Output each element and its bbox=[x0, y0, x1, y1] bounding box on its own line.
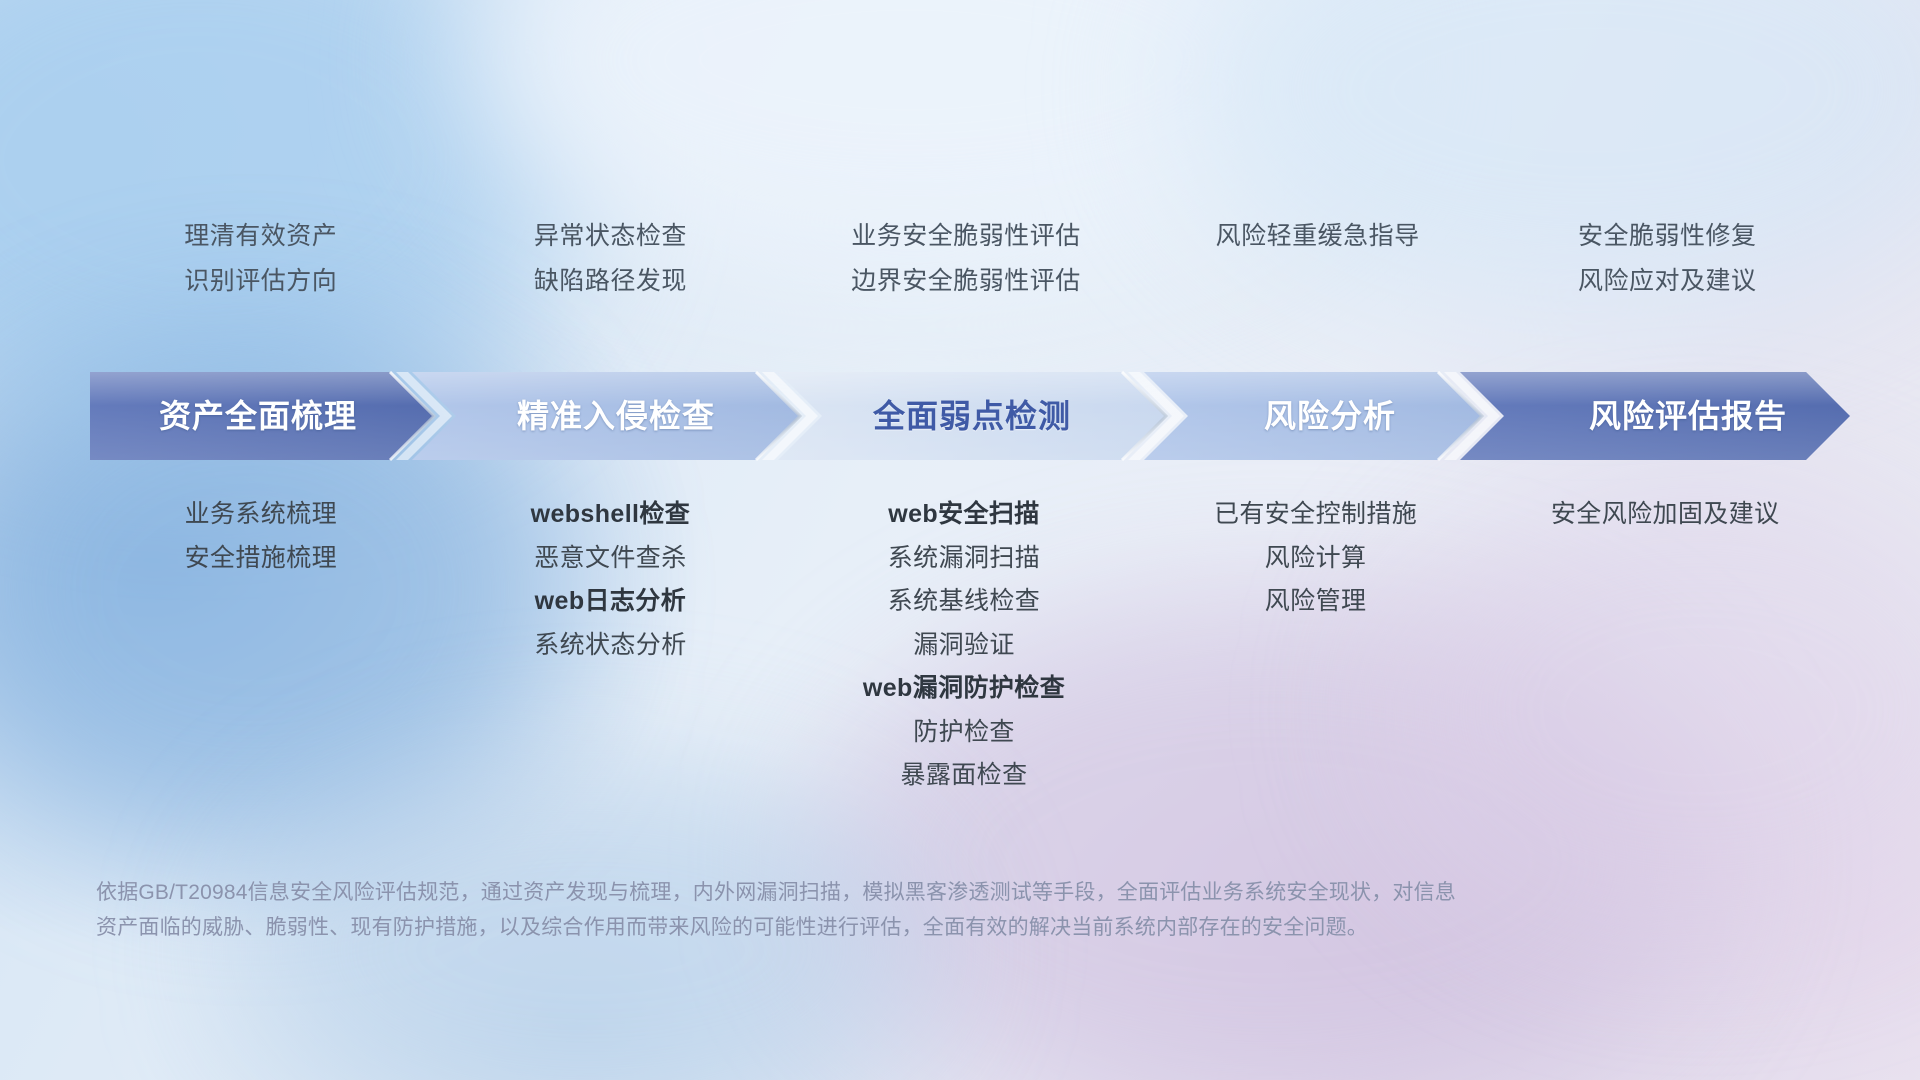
top-note: 风险应对及建议 bbox=[1578, 267, 1757, 296]
list-item: 风险计算 bbox=[1265, 544, 1367, 574]
list-item: 已有安全控制措施 bbox=[1214, 500, 1417, 530]
list-item: 安全措施梳理 bbox=[185, 544, 337, 574]
list-item: web安全扫描 bbox=[888, 500, 1039, 530]
top-note: 安全脆弱性修复 bbox=[1578, 222, 1757, 251]
list-item: 系统基线检查 bbox=[888, 587, 1040, 617]
detail-list-stage-1: 业务系统梳理 安全措施梳理 bbox=[88, 500, 434, 791]
detail-list-stage-4: 已有安全控制措施 风险计算 风险管理 bbox=[1143, 500, 1489, 791]
list-item: 防护检查 bbox=[913, 718, 1015, 748]
detail-list-stage-3: web安全扫描 系统漏洞扫描 系统基线检查 漏洞验证 web漏洞防护检查 防护检… bbox=[791, 500, 1137, 791]
list-item: 风险管理 bbox=[1265, 587, 1367, 617]
footer-description: 依据GB/T20984信息安全风险评估规范，通过资产发现与梳理，内外网漏洞扫描，… bbox=[96, 876, 1720, 945]
list-item: 业务系统梳理 bbox=[185, 500, 337, 530]
chevron-stage-2 bbox=[412, 372, 800, 460]
top-note: 业务安全脆弱性评估 bbox=[851, 222, 1081, 251]
top-note: 识别评估方向 bbox=[184, 267, 337, 296]
process-arrow-band bbox=[90, 372, 1850, 460]
footer-line-1: 依据GB/T20984信息安全风险评估规范，通过资产发现与梳理，内外网漏洞扫描，… bbox=[96, 876, 1720, 911]
list-item: 漏洞验证 bbox=[913, 631, 1015, 661]
top-note: 理清有效资产 bbox=[184, 222, 337, 251]
list-item: 恶意文件查杀 bbox=[534, 544, 686, 574]
top-note: 缺陷路径发现 bbox=[534, 267, 687, 296]
chevron-stage-4 bbox=[1144, 372, 1482, 460]
footer-line-2: 资产面临的威胁、脆弱性、现有防护措施，以及综合作用而带来风险的可能性进行评估，全… bbox=[96, 911, 1720, 946]
top-notes-stage-3: 业务安全脆弱性评估 边界安全脆弱性评估 bbox=[793, 222, 1139, 296]
chevron-stage-1 bbox=[90, 372, 434, 460]
top-notes-stage-1: 理清有效资产 识别评估方向 bbox=[88, 222, 434, 296]
slide-canvas: 理清有效资产 识别评估方向 异常状态检查 缺陷路径发现 业务安全脆弱性评估 边界… bbox=[0, 0, 1920, 1080]
top-note: 边界安全脆弱性评估 bbox=[851, 267, 1081, 296]
chevron-stage-3 bbox=[778, 372, 1166, 460]
list-item: 安全风险加固及建议 bbox=[1551, 500, 1780, 530]
detail-list-stage-5: 安全风险加固及建议 bbox=[1492, 500, 1838, 791]
list-item: web漏洞防护检查 bbox=[863, 674, 1065, 704]
list-item: webshell检查 bbox=[531, 500, 691, 530]
detail-list-stage-2: webshell检查 恶意文件查杀 web日志分析 系统状态分析 bbox=[438, 500, 784, 791]
top-note: 风险轻重缓急指导 bbox=[1216, 222, 1420, 251]
top-note: 异常状态检查 bbox=[534, 222, 687, 251]
top-notes-stage-5: 安全脆弱性修复 风险应对及建议 bbox=[1494, 222, 1840, 296]
chevron-stage-5 bbox=[1460, 372, 1850, 460]
top-notes-row: 理清有效资产 识别评估方向 异常状态检查 缺陷路径发现 业务安全脆弱性评估 边界… bbox=[96, 222, 1824, 296]
list-item: 系统漏洞扫描 bbox=[888, 544, 1040, 574]
list-item: 暴露面检查 bbox=[900, 761, 1027, 791]
top-notes-stage-4: 风险轻重缓急指导 bbox=[1145, 222, 1491, 296]
top-notes-stage-2: 异常状态检查 缺陷路径发现 bbox=[438, 222, 784, 296]
list-item: web日志分析 bbox=[535, 587, 686, 617]
list-item: 系统状态分析 bbox=[534, 631, 686, 661]
stage-detail-lists: 业务系统梳理 安全措施梳理 webshell检查 恶意文件查杀 web日志分析 … bbox=[96, 500, 1824, 791]
